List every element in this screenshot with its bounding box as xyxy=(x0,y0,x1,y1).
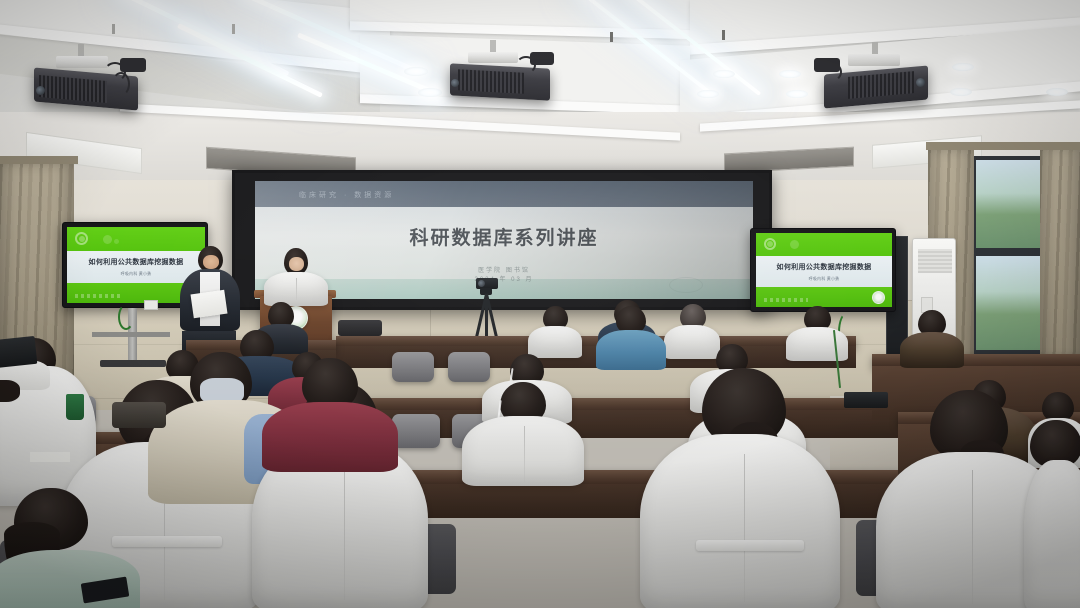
monitor-cable xyxy=(118,304,134,330)
camera-lens xyxy=(478,280,485,287)
audience-member-foreground xyxy=(0,488,140,608)
audience-member xyxy=(462,382,584,482)
lecture-hall-photo: 临床研究 · 数据资源 科研数据库系列讲座 医学院 图书馆 2024 年 03 … xyxy=(0,0,1080,608)
downlight xyxy=(950,88,972,96)
audience-member xyxy=(528,306,582,356)
chair[interactable] xyxy=(392,352,434,382)
laptop[interactable] xyxy=(0,336,37,368)
slide-hospital-emblem xyxy=(872,291,885,304)
slide-decor-circle xyxy=(103,235,112,244)
main-slide-title: 科研数据库系列讲座 xyxy=(255,223,753,250)
ceiling-projector xyxy=(824,42,944,116)
papers xyxy=(30,452,70,462)
downlight xyxy=(779,70,801,78)
downlight xyxy=(786,90,808,98)
coat-belt xyxy=(696,540,804,551)
main-slide-watermark xyxy=(669,277,703,293)
right-monitor-slide-subtitle: 呼吸内科 黄小勇 xyxy=(756,276,892,282)
main-slide-header: 临床研究 · 数据资源 xyxy=(299,190,394,200)
right-wall-monitor[interactable]: 如何利用公共数据库挖掘数据 呼吸内科 黄小勇 xyxy=(750,228,896,312)
projector-cable xyxy=(112,72,130,96)
audience-member-foreground xyxy=(262,358,398,468)
slide-decor-circle xyxy=(790,240,799,249)
bag xyxy=(112,402,166,428)
downlight xyxy=(952,63,974,71)
slide-decor-circle xyxy=(767,241,773,247)
downlight xyxy=(404,67,428,76)
audience-member xyxy=(786,306,848,358)
green-cup[interactable] xyxy=(66,394,84,420)
ceiling-projector xyxy=(34,44,154,118)
slide-decor-circle xyxy=(79,236,85,242)
presenter-host xyxy=(258,248,334,298)
right-monitor-slide-title: 如何利用公共数据库挖掘数据 xyxy=(756,262,892,272)
bag xyxy=(338,320,382,336)
audience-member-foreground xyxy=(1024,420,1080,608)
audience-member xyxy=(596,306,666,368)
downlight xyxy=(713,70,735,78)
wall-socket[interactable] xyxy=(144,300,158,310)
ceiling-projector xyxy=(450,40,562,110)
downlight xyxy=(418,88,442,97)
slide-decor-circle xyxy=(114,239,119,244)
audience-member-foreground xyxy=(640,368,840,608)
downlight xyxy=(697,90,719,98)
speaker-notes xyxy=(190,290,227,318)
laptop[interactable] xyxy=(844,392,888,408)
downlight xyxy=(1046,88,1068,96)
audience-member xyxy=(900,310,964,366)
ceiling xyxy=(0,0,1080,185)
